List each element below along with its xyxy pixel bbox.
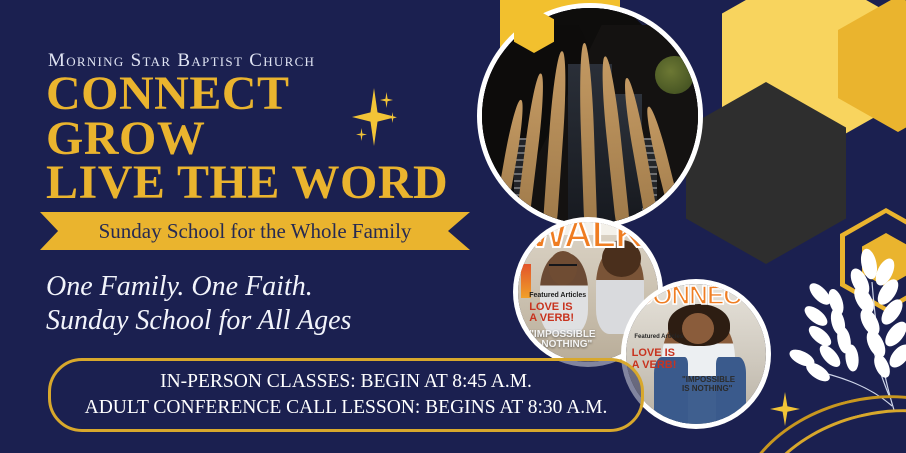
magazine-connect-subheadline-line2: IS NOTHING" — [682, 385, 735, 394]
magazine-connect-cover: CONNECT Featured Articles LOVE IS A VERB… — [626, 284, 766, 424]
schedule-info-box: IN-PERSON CLASSES: BEGIN AT 8:45 A.M. AD… — [48, 358, 644, 432]
tagline: One Family. One Faith. Sunday School for… — [46, 270, 351, 338]
tagline-line2: Sunday School for All Ages — [46, 304, 351, 338]
headline-line-grow: GROW — [46, 117, 448, 162]
headline-line-connect: CONNECT — [46, 72, 448, 117]
magazine-walk-headline-line2: A VERB! — [529, 313, 574, 325]
tagline-line1: One Family. One Faith. — [46, 270, 351, 304]
magazine-connect-headline: LOVE IS A VERB! — [632, 348, 677, 371]
schedule-conference-call: ADULT CONFERENCE CALL LESSON: BEGINS AT … — [85, 395, 608, 421]
schedule-in-person: IN-PERSON CLASSES: BEGIN AT 8:45 A.M. — [160, 369, 532, 395]
magazine-walk-subheadline-line2: IS NOTHING" — [529, 340, 595, 351]
headline-line-live-the-word: LIVE THE WORD — [46, 161, 448, 206]
magazine-walk-headline: LOVE IS A VERB! — [529, 302, 574, 325]
ribbon-banner: Sunday School for the Whole Family — [40, 212, 470, 250]
flyer-canvas: WALK Featured Articles LOVE IS A VERB! "… — [0, 0, 906, 453]
magazine-connect-headline-line2: A VERB! — [632, 360, 677, 372]
magazine-connect-title: CONNECT — [634, 284, 766, 311]
magazine-connect-circle: CONNECT Featured Articles LOVE IS A VERB… — [626, 284, 766, 424]
page-title: CONNECT GROW LIVE THE WORD — [46, 72, 448, 206]
church-foliage — [655, 56, 694, 95]
ribbon-banner-label: Sunday School for the Whole Family — [40, 212, 470, 250]
leaf-branch-icon — [772, 238, 906, 418]
magazine-walk-featured-label: Featured Articles — [529, 292, 586, 299]
magazine-walk-subheadline: "IMPOSSIBLE IS NOTHING" — [529, 330, 595, 351]
glasses-icon — [549, 264, 577, 273]
magazine-walk-title: WALK — [529, 222, 649, 253]
magazine-connect-featured-label: Featured Articles — [634, 334, 683, 341]
magazine-connect-subheadline: "IMPOSSIBLE IS NOTHING" — [682, 376, 735, 394]
